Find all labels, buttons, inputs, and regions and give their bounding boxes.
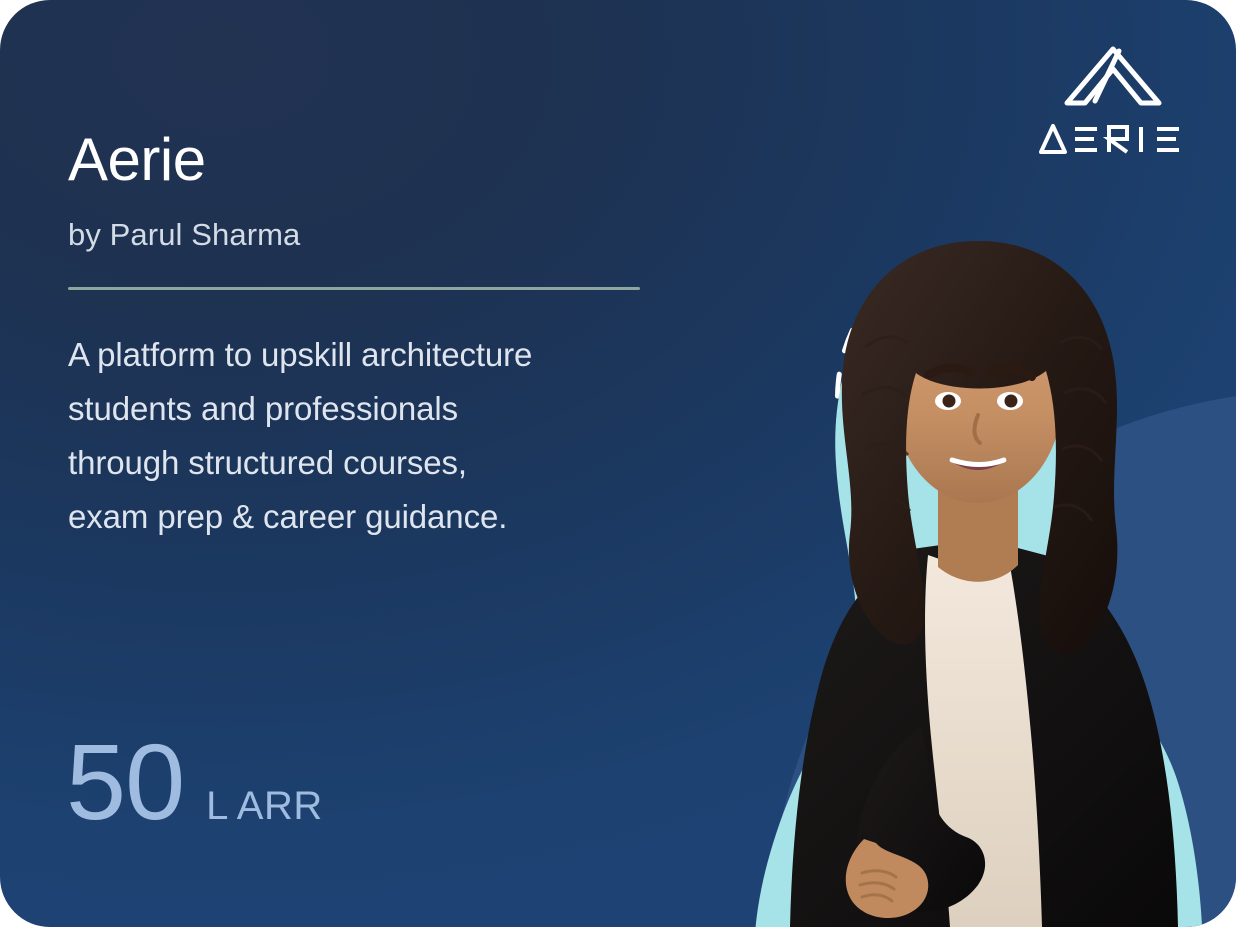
metric-value: 50 <box>66 733 184 830</box>
metric-block: 50 L ARR <box>66 733 323 830</box>
page-title: Aerie <box>68 128 688 191</box>
aerie-wordmark-icon <box>1039 123 1187 157</box>
description-text: A platform to upskill architecture stude… <box>68 328 688 544</box>
card-content: Aerie by Parul Sharma A platform to upsk… <box>68 128 688 544</box>
aerie-a-monogram-icon <box>1061 45 1165 107</box>
aerie-logo <box>1038 45 1188 157</box>
byline: by Parul Sharma <box>68 217 688 253</box>
divider <box>68 287 640 290</box>
founder-profile-card: Aerie by Parul Sharma A platform to upsk… <box>0 0 1236 927</box>
metric-label: L ARR <box>206 784 323 829</box>
founder-portrait <box>716 167 1236 927</box>
